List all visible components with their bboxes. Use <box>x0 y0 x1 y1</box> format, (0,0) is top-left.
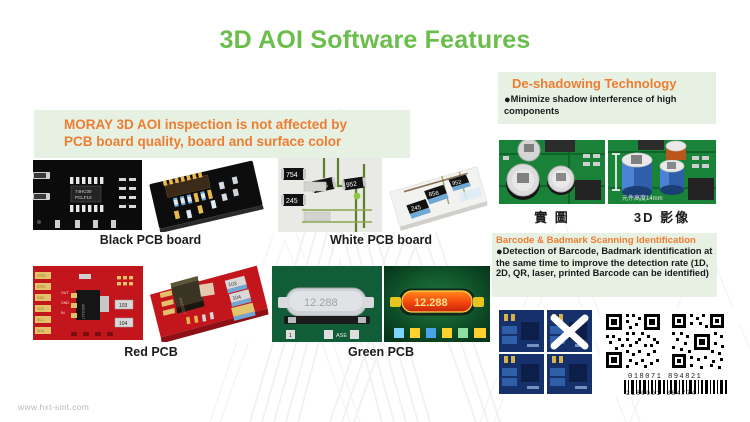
bullet-icon: ● <box>504 94 511 106</box>
black-pcb-2d-image: 74HC00 PCLF10 <box>33 160 142 230</box>
green-pcb-caption: Green PCB <box>272 345 490 359</box>
barcode-body-text: Detection of Barcode, Badmark identifica… <box>496 246 712 278</box>
white-pcb-3d-image: 245 856 952 <box>385 158 490 232</box>
svg-text:VCC: VCC <box>37 307 45 311</box>
page-title: 3D AOI Software Features <box>0 26 750 55</box>
red-pcb-caption: Red PCB <box>33 345 269 359</box>
black-pcb-3d-image <box>143 158 268 232</box>
barcode-panel: Barcode & Badmark Scanning Identificatio… <box>492 233 717 297</box>
barcode-bottom-digits: 2180001 884774 <box>626 390 697 396</box>
svg-text:103: 103 <box>119 303 128 309</box>
white-pcb-caption: White PCB board <box>272 233 490 247</box>
svg-text:104: 104 <box>119 321 128 327</box>
svg-text:AMS1117: AMS1117 <box>81 304 85 319</box>
svg-text:IN: IN <box>61 311 65 315</box>
svg-text:74HC00: 74HC00 <box>75 189 92 194</box>
statement-panel: MORAY 3D AOI inspection is not affected … <box>34 110 410 158</box>
deshadowing-real-image <box>499 140 605 204</box>
deshadowing-body-text: Minimize shadow interference of high com… <box>504 94 676 116</box>
svg-text:1: 1 <box>289 333 292 339</box>
statement-text: MORAY 3D AOI inspection is not affected … <box>64 116 414 150</box>
slide-canvas: 3D AOI Software Features MORAY 3D AOI in… <box>0 0 750 422</box>
svg-text:245: 245 <box>286 198 298 205</box>
svg-text:12.288: 12.288 <box>304 297 338 309</box>
barcode-body: ●Detection of Barcode, Badmark identific… <box>496 246 718 279</box>
svg-text:GND: GND <box>61 301 69 305</box>
qr-code-2 <box>670 312 728 370</box>
black-pcb-caption: Black PCB board <box>33 233 268 247</box>
barcode-top-digits: 018071 894821 <box>628 373 702 381</box>
svg-text:GPIO: GPIO <box>37 285 46 289</box>
barcode-label-image: 018071 894821 218000 <box>600 308 740 396</box>
qr-code-1 <box>604 312 662 370</box>
bullet-icon: ● <box>496 246 503 258</box>
footer-url: www.hxt-smt.com <box>18 402 89 412</box>
svg-text:GPIO: GPIO <box>37 274 46 278</box>
deshadowing-3d-image: 元件高度14mm <box>608 140 716 204</box>
barcode-heading: Barcode & Badmark Scanning Identificatio… <box>496 235 696 246</box>
deshadowing-body: ●Minimize shadow interference of high co… <box>504 94 714 117</box>
deshadowing-heading: De-shadowing Technology <box>512 76 676 91</box>
height-annotation-text: 元件高度14mm <box>622 194 663 202</box>
svg-text:ASE: ASE <box>336 333 347 339</box>
svg-text:PCLF10: PCLF10 <box>75 195 92 200</box>
svg-text:12.288: 12.288 <box>414 297 448 309</box>
statement-line-2: PCB board quality, board and surface col… <box>64 133 414 150</box>
green-pcb-3d-image: 12.288 <box>384 266 490 342</box>
green-pcb-2d-image: 12.288 1 ASE <box>272 266 382 342</box>
svg-text:SCL: SCL <box>37 318 44 322</box>
deshadowing-3d-caption: 3D 影像 <box>608 207 716 226</box>
svg-text:754: 754 <box>286 172 298 179</box>
svg-text:SDA: SDA <box>37 329 45 333</box>
badmark-panel-image <box>497 308 595 396</box>
red-pcb-2d-image: GPIOGPIOGND VCCSCLSDA OUTGNDIN AMS1117 1… <box>33 266 143 340</box>
svg-text:GND: GND <box>37 296 45 300</box>
red-pcb-3d-image: AMS1117 103 104 <box>144 264 269 342</box>
deshadowing-panel: De-shadowing Technology ●Minimize shadow… <box>498 72 716 124</box>
white-pcb-2d-image: 754 245 856 952 <box>272 158 382 232</box>
deshadowing-real-caption: 實 圖 <box>499 207 605 226</box>
svg-text:OUT: OUT <box>61 291 69 295</box>
statement-line-1: MORAY 3D AOI inspection is not affected … <box>64 116 414 133</box>
